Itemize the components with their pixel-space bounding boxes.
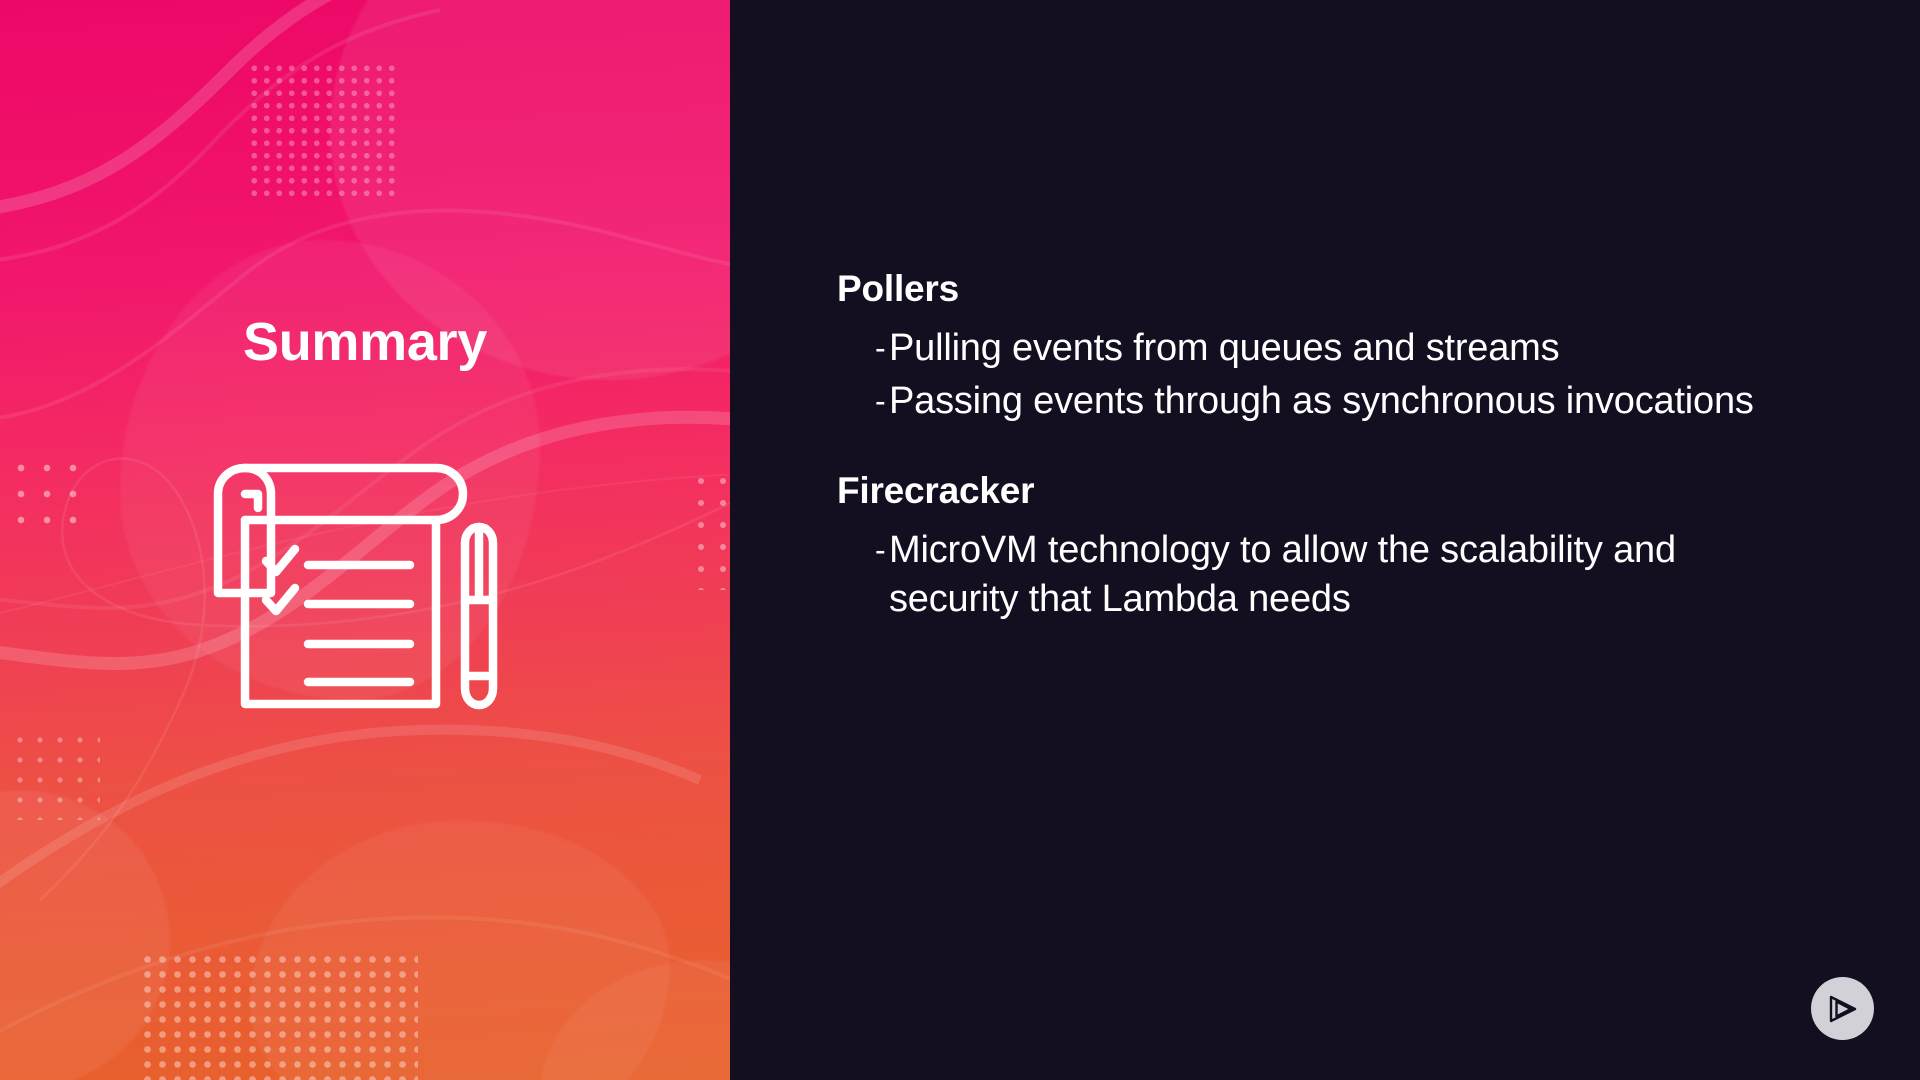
play-triangle-icon xyxy=(1823,989,1863,1029)
section-heading-firecracker: Firecracker xyxy=(837,470,1812,511)
section-pollers: Pollers - Pulling events from queues and… xyxy=(837,268,1812,426)
right-content-panel: Pollers - Pulling events from queues and… xyxy=(730,0,1920,1080)
checklist-notepad-icon xyxy=(196,448,526,718)
bullet-list-firecracker: - MicroVM technology to allow the scalab… xyxy=(837,526,1812,623)
bullet-text: MicroVM technology to allow the scalabil… xyxy=(889,526,1769,623)
section-firecracker: Firecracker - MicroVM technology to allo… xyxy=(837,470,1812,624)
bullet-text: Passing events through as synchronous in… xyxy=(889,377,1754,426)
left-title-panel: Summary xyxy=(0,0,730,1080)
slide-title: Summary xyxy=(0,311,730,373)
pluralsight-play-logo xyxy=(1811,977,1874,1040)
bullet-dash-icon: - xyxy=(837,526,889,575)
section-heading-pollers: Pollers xyxy=(837,268,1812,309)
summary-sections: Pollers - Pulling events from queues and… xyxy=(837,268,1812,627)
list-item: - MicroVM technology to allow the scalab… xyxy=(837,526,1812,623)
bullet-list-pollers: - Pulling events from queues and streams… xyxy=(837,324,1812,425)
bullet-dash-icon: - xyxy=(837,324,889,373)
bullet-dash-icon: - xyxy=(837,377,889,426)
list-item: - Passing events through as synchronous … xyxy=(837,377,1812,426)
list-item: - Pulling events from queues and streams xyxy=(837,324,1812,373)
bullet-text: Pulling events from queues and streams xyxy=(889,324,1559,373)
